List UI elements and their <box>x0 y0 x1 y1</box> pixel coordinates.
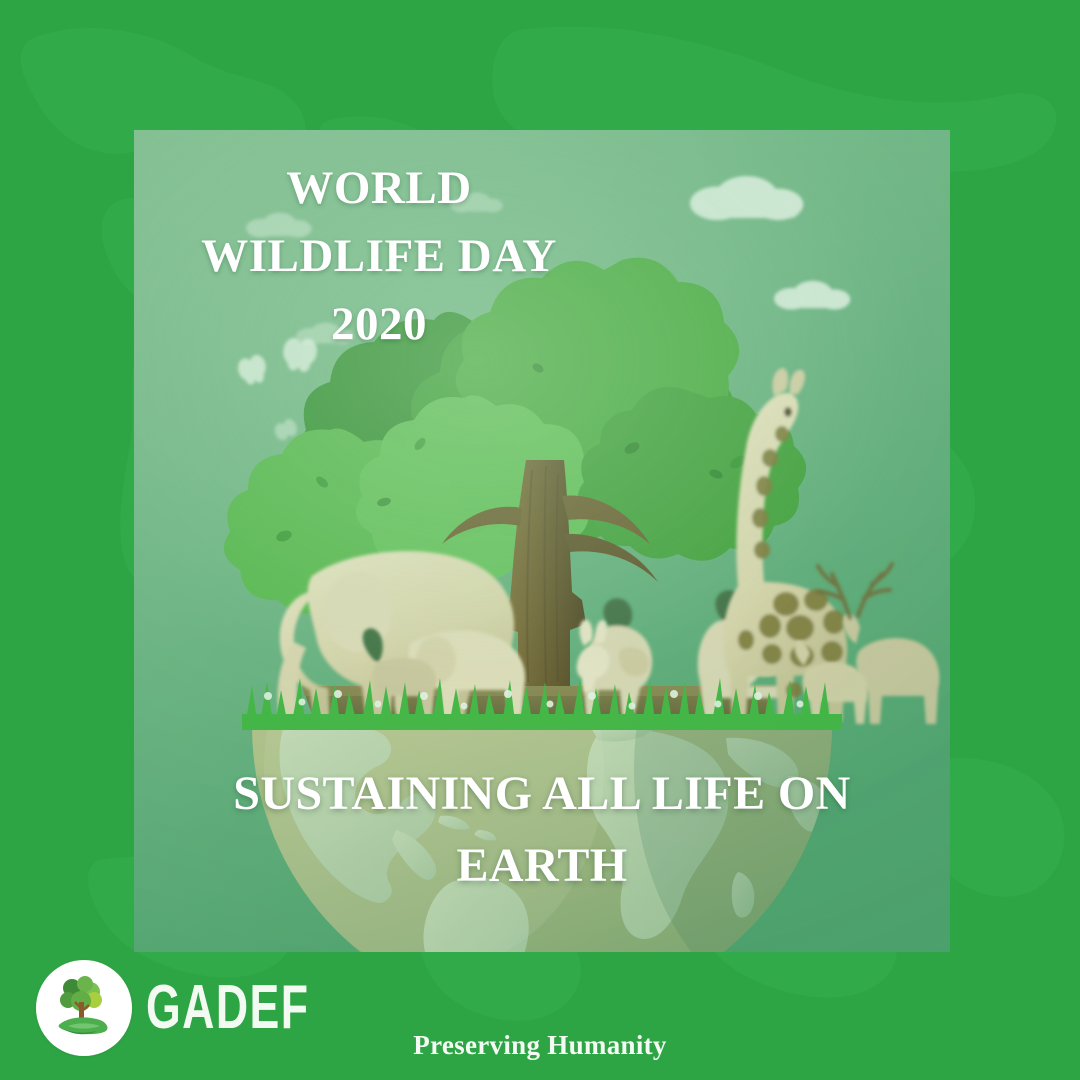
poster-canvas: WORLD WILDLIFE DAY 2020 SUSTAINING ALL L… <box>0 0 1080 1080</box>
page-subtitle: SUSTAINING ALL LIFE ON EARTH <box>192 758 892 902</box>
brand-tagline: Preserving Humanity <box>0 1030 1080 1061</box>
footer-bar: GADEF Preserving Humanity <box>0 952 1080 1080</box>
artwork-card: WORLD WILDLIFE DAY 2020 SUSTAINING ALL L… <box>134 130 950 952</box>
page-title: WORLD WILDLIFE DAY 2020 <box>164 154 594 358</box>
